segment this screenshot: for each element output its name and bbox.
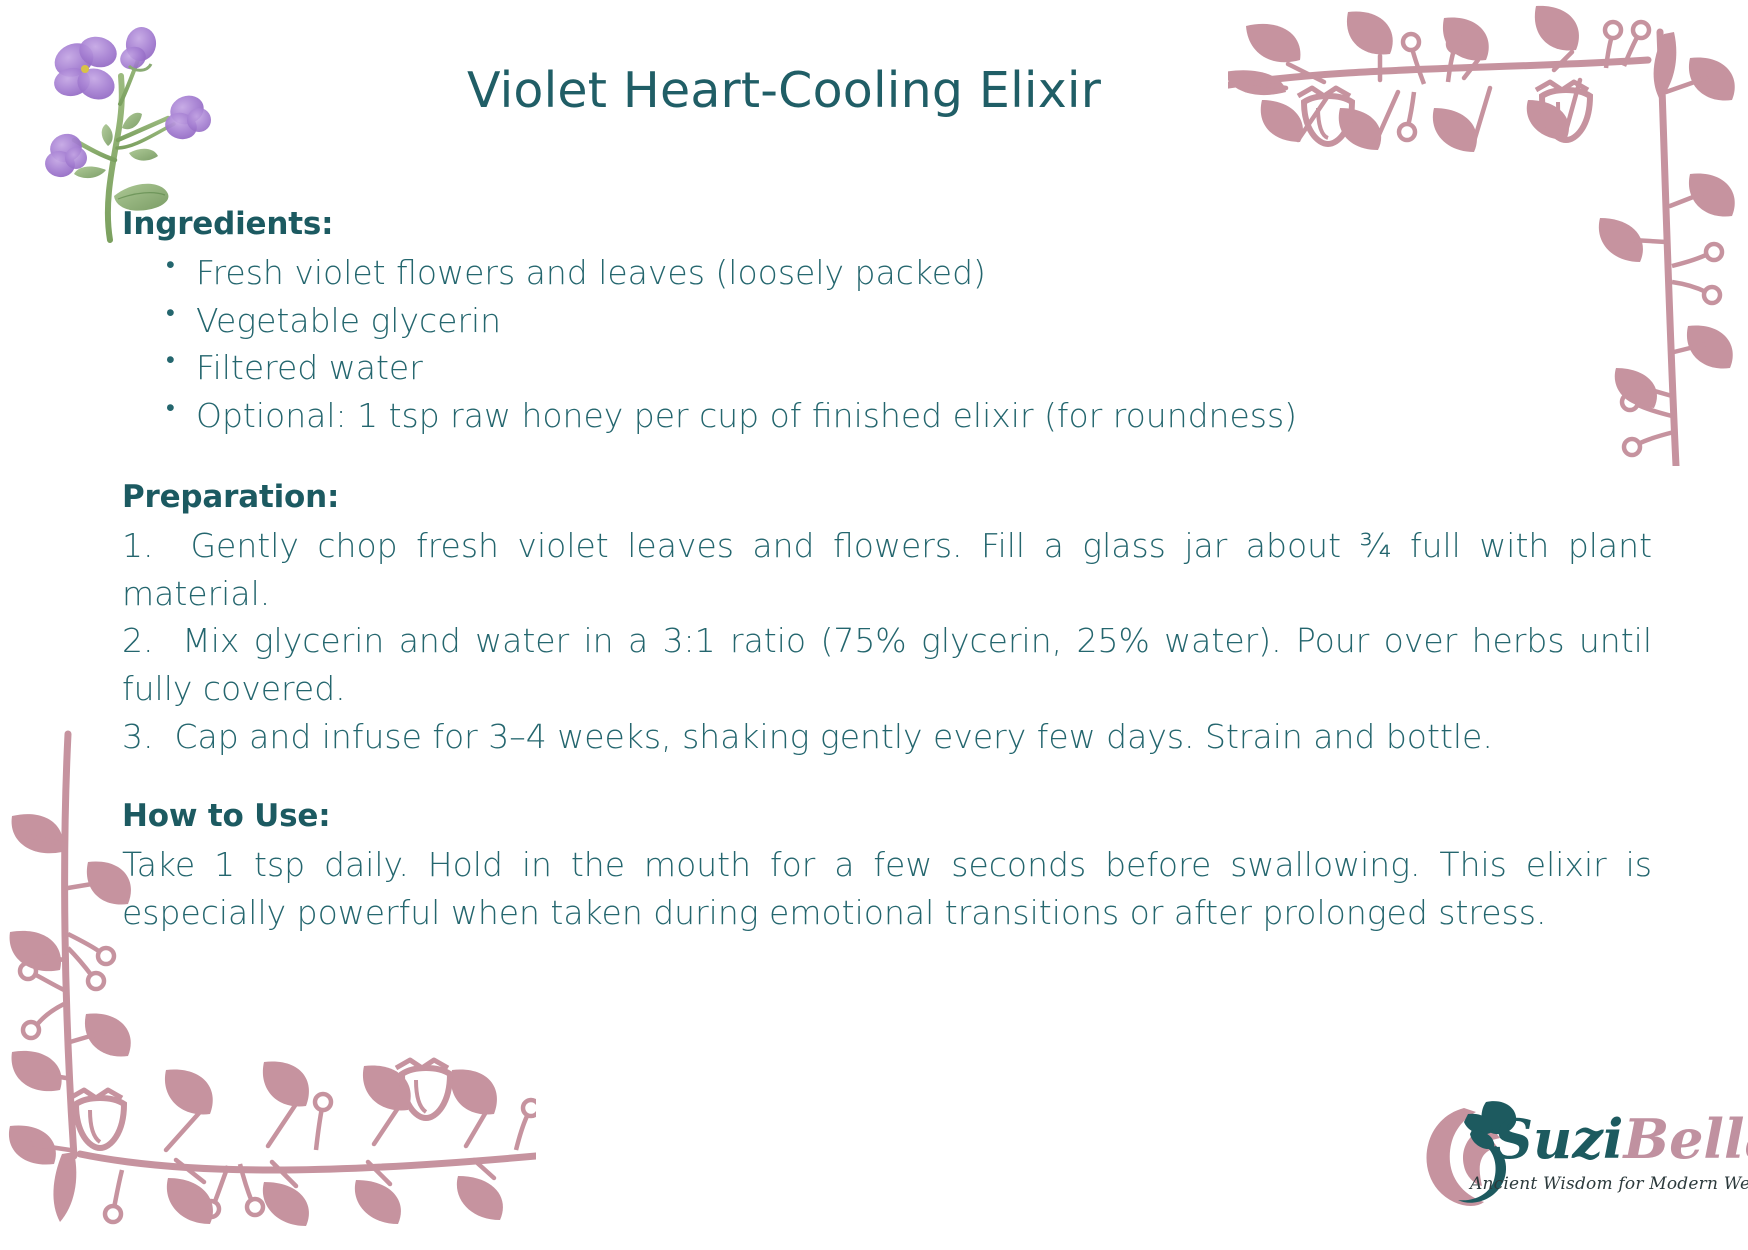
page-title: Violet Heart-Cooling Elixir: [0, 62, 1748, 119]
how-to-use-text: Take 1 tsp daily. Hold in the mouth for …: [122, 841, 1652, 936]
preparation-step: 3. Cap and infuse for 3–4 weeks, shaking…: [122, 713, 1652, 761]
preparation-heading: Preparation:: [122, 479, 1652, 516]
list-item: Vegetable glycerin: [164, 297, 1652, 345]
list-item: Filtered water: [164, 344, 1652, 392]
logo-wordmark: SuziBella: [1494, 1112, 1748, 1167]
ingredients-list: Fresh violet flowers and leaves (loosely…: [122, 249, 1652, 439]
recipe-body: Ingredients: Fresh violet flowers and le…: [122, 206, 1652, 936]
how-to-use-heading: How to Use:: [122, 798, 1652, 835]
logo-brand-second: Bella: [1623, 1107, 1748, 1171]
preparation-step: 2. Mix glycerin and water in a 3:1 ratio…: [122, 617, 1652, 712]
step-text: Mix glycerin and water in a 3:1 ratio (7…: [122, 621, 1652, 708]
list-item: Fresh violet flowers and leaves (loosely…: [164, 249, 1652, 297]
step-text: Cap and infuse for 3–4 weeks, shaking ge…: [174, 717, 1492, 756]
step-number: 2.: [122, 621, 154, 660]
preparation-step: 1. Gently chop fresh violet leaves and f…: [122, 522, 1652, 617]
recipe-card: Violet Heart-Cooling Elixir Ingredients:…: [0, 0, 1748, 1240]
step-number: 1.: [122, 526, 154, 565]
brand-logo: SuziBella Ancient Wisdom for Modern Well…: [1408, 1090, 1708, 1218]
list-item: Optional: 1 tsp raw honey per cup of fin…: [164, 392, 1652, 440]
ingredients-heading: Ingredients:: [122, 206, 1652, 243]
step-number: 3.: [122, 717, 154, 756]
logo-brand-first: Suzi: [1494, 1107, 1623, 1171]
step-text: Gently chop fresh violet leaves and flow…: [122, 526, 1652, 613]
logo-tagline: Ancient Wisdom for Modern Wellness: [1470, 1174, 1748, 1194]
